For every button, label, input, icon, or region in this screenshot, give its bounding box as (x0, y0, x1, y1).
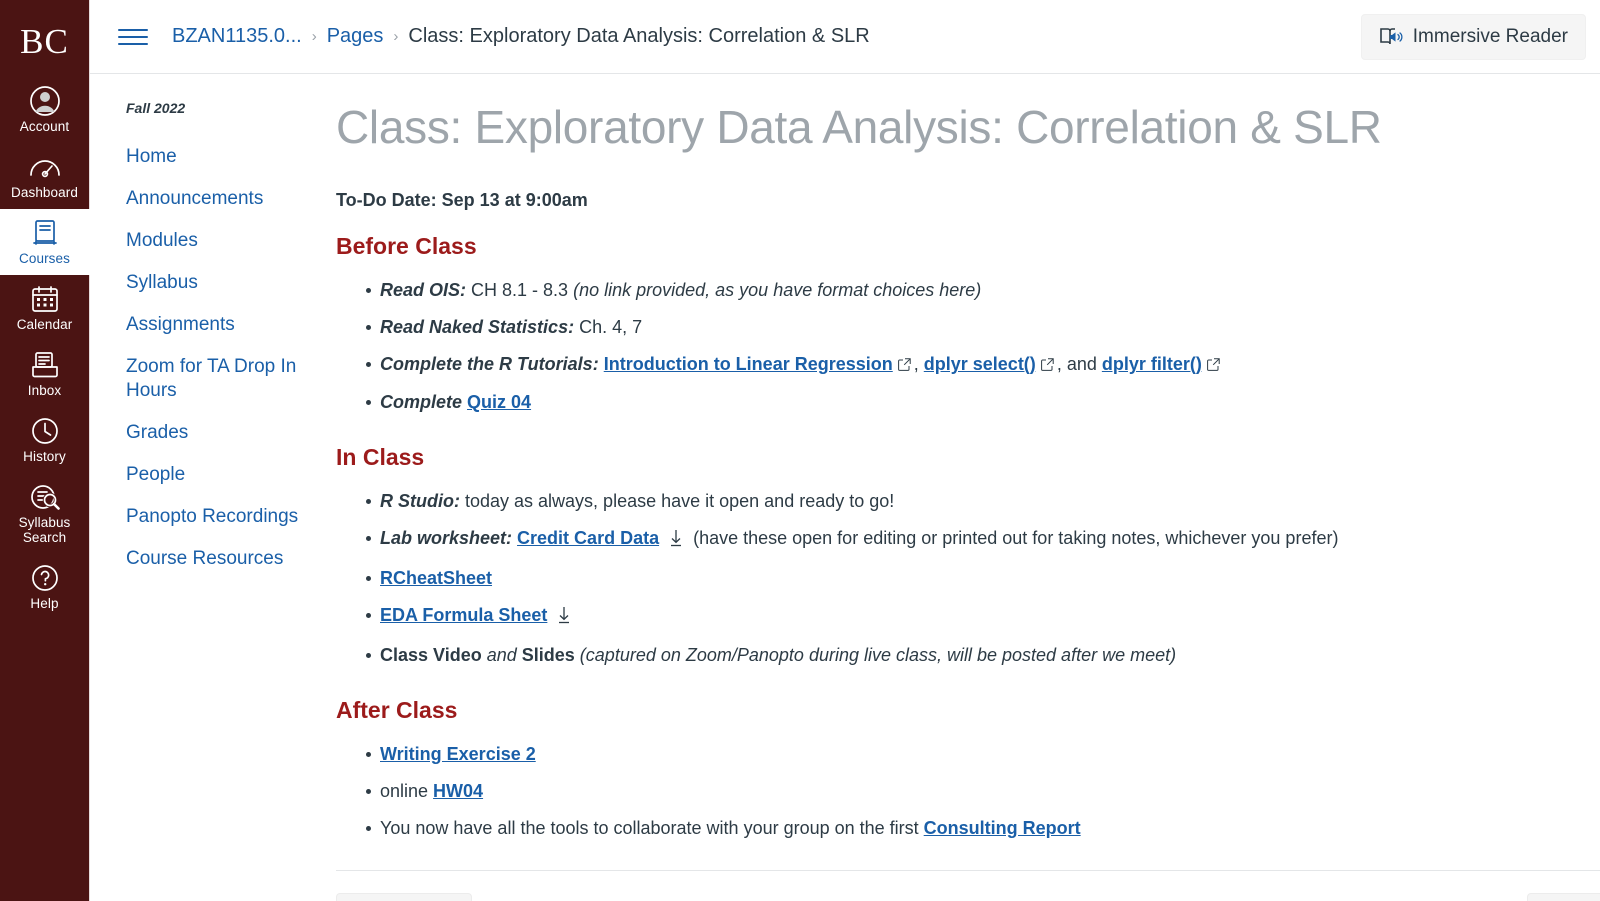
list-item: Writing Exercise 2 (366, 740, 1600, 768)
section-list: Read OIS: CH 8.1 - 8.3 (no link provided… (336, 276, 1600, 416)
global-nav-label: Calendar (17, 317, 73, 332)
global-nav-item-account[interactable]: Account (0, 77, 90, 143)
text-span: Class Video (380, 645, 482, 665)
content-link[interactable]: EDA Formula Sheet (380, 605, 547, 625)
global-nav-item-courses[interactable]: Courses (0, 209, 90, 275)
list-item: EDA Formula Sheet (366, 601, 1600, 632)
dashboard-icon (28, 152, 62, 182)
breadcrumb-separator: › (312, 28, 317, 45)
content-link[interactable]: dplyr select() (924, 354, 1036, 374)
global-nav-item-syllabus-search[interactable]: Syllabus Search (0, 473, 90, 554)
global-nav-label: Dashboard (11, 185, 78, 200)
text-span: Slides (522, 645, 575, 665)
global-nav-label: Inbox (28, 383, 62, 398)
text-span: , and (1057, 354, 1102, 374)
download-icon[interactable] (668, 527, 684, 555)
immersive-reader-label: Immersive Reader (1413, 26, 1568, 48)
brand-logo: BC (20, 24, 69, 59)
history-clock-icon (30, 416, 60, 446)
breadcrumb-current: Class: Exploratory Data Analysis: Correl… (408, 25, 869, 48)
content-link[interactable]: Introduction to Linear Regression (604, 354, 893, 374)
term-label: Fall 2022 (124, 100, 308, 116)
text-span: Complete (380, 392, 462, 412)
text-span: Ch. 4, 7 (574, 317, 642, 337)
immersive-reader-button[interactable]: Immersive Reader (1361, 14, 1586, 60)
list-item: Lab worksheet: Credit Card Data (have th… (366, 524, 1600, 555)
content-link[interactable]: RCheatSheet (380, 568, 492, 588)
course-nav-item-panopto-recordings[interactable]: Panopto Recordings (124, 496, 308, 538)
course-nav-item-people[interactable]: People (124, 454, 308, 496)
text-span: Read OIS: (380, 280, 466, 300)
content-link[interactable]: Writing Exercise 2 (380, 744, 536, 764)
global-nav-item-history[interactable]: History (0, 407, 90, 473)
global-nav-label: Syllabus Search (2, 515, 88, 545)
pagination: ◂ Previous Next ▸ (336, 871, 1600, 901)
external-link-icon (1207, 351, 1220, 379)
global-nav-label: Account (20, 119, 69, 134)
text-span: (have these open for editing or printed … (688, 528, 1338, 548)
previous-button[interactable]: ◂ Previous (336, 893, 472, 901)
list-item: You now have all the tools to collaborat… (366, 814, 1600, 842)
list-item: Complete the R Tutorials: Introduction t… (366, 350, 1600, 379)
course-nav-item-syllabus[interactable]: Syllabus (124, 262, 308, 304)
global-nav-item-dashboard[interactable]: Dashboard (0, 143, 90, 209)
syllabus-search-icon (29, 482, 61, 512)
content-link[interactable]: Credit Card Data (517, 528, 659, 548)
next-button[interactable]: Next ▸ (1527, 893, 1600, 901)
immersive-reader-icon (1379, 26, 1403, 48)
course-nav-item-course-resources[interactable]: Course Resources (124, 538, 308, 580)
text-span: (captured on Zoom/Panopto during live cl… (575, 645, 1176, 665)
text-span: Read Naked Statistics: (380, 317, 574, 337)
page-title: Class: Exploratory Data Analysis: Correl… (336, 100, 1600, 154)
global-nav-label: History (23, 449, 66, 464)
canvas-app: BC AccountDashboardCoursesCalendarInboxH… (0, 0, 1600, 901)
content-link[interactable]: Quiz 04 (467, 392, 531, 412)
list-item: R Studio: today as always, please have i… (366, 487, 1600, 515)
section-heading: In Class (336, 444, 1600, 471)
course-nav-item-zoom-for-ta-drop-in-hours[interactable]: Zoom for TA Drop In Hours (124, 346, 308, 412)
text-span: Complete the R Tutorials: (380, 354, 599, 374)
text-span: online (380, 781, 433, 801)
text-span: Lab worksheet: (380, 528, 512, 548)
content-sections: Before ClassRead OIS: CH 8.1 - 8.3 (no l… (336, 233, 1600, 842)
list-item: online HW04 (366, 777, 1600, 805)
content-link[interactable]: Consulting Report (924, 818, 1081, 838)
calendar-icon (30, 284, 60, 314)
breadcrumb: BZAN1135.0...›Pages›Class: Exploratory D… (172, 25, 870, 48)
list-item: Complete Quiz 04 (366, 388, 1600, 416)
text-span: CH 8.1 - 8.3 (466, 280, 573, 300)
section-heading: After Class (336, 697, 1600, 724)
list-item: Read Naked Statistics: Ch. 4, 7 (366, 313, 1600, 341)
text-span: and (482, 645, 522, 665)
global-nav-item-help[interactable]: Help (0, 554, 90, 620)
course-nav-item-grades[interactable]: Grades (124, 412, 308, 454)
list-item: Read OIS: CH 8.1 - 8.3 (no link provided… (366, 276, 1600, 304)
text-span: (no link provided, as you have format ch… (573, 280, 981, 300)
global-navigation: BC AccountDashboardCoursesCalendarInboxH… (0, 0, 90, 901)
main-region: BZAN1135.0...›Pages›Class: Exploratory D… (90, 0, 1600, 901)
todo-date: To-Do Date: Sep 13 at 9:00am (336, 190, 1600, 211)
content-region: Fall 2022 HomeAnnouncementsModulesSyllab… (90, 74, 1600, 901)
help-question-icon (30, 563, 60, 593)
inbox-icon (30, 350, 60, 380)
hamburger-icon[interactable] (118, 25, 148, 49)
global-nav-label: Courses (19, 251, 70, 266)
page-content: Class: Exploratory Data Analysis: Correl… (326, 74, 1600, 901)
breadcrumb-bar: BZAN1135.0...›Pages›Class: Exploratory D… (90, 0, 1600, 74)
content-link[interactable]: dplyr filter() (1102, 354, 1202, 374)
global-nav-label: Help (30, 596, 58, 611)
course-nav-item-announcements[interactable]: Announcements (124, 178, 308, 220)
external-link-icon (898, 351, 911, 379)
list-item: Class Video and Slides (captured on Zoom… (366, 641, 1600, 669)
course-nav-item-assignments[interactable]: Assignments (124, 304, 308, 346)
list-item: RCheatSheet (366, 564, 1600, 592)
text-span: , (914, 354, 924, 374)
external-link-icon (1041, 351, 1054, 379)
section-list: R Studio: today as always, please have i… (336, 487, 1600, 669)
course-nav-items: HomeAnnouncementsModulesSyllabusAssignme… (124, 136, 308, 580)
breadcrumb-separator: › (393, 28, 398, 45)
course-nav-item-modules[interactable]: Modules (124, 220, 308, 262)
courses-icon (31, 218, 59, 248)
section-heading: Before Class (336, 233, 1600, 260)
course-navigation: Fall 2022 HomeAnnouncementsModulesSyllab… (90, 74, 326, 901)
account-icon (28, 86, 62, 116)
breadcrumb-link[interactable]: BZAN1135.0... (172, 25, 302, 48)
course-nav-item-home[interactable]: Home (124, 136, 308, 178)
text-span: You now have all the tools to collaborat… (380, 818, 924, 838)
text-span: today as always, please have it open and… (460, 491, 894, 511)
download-icon[interactable] (556, 604, 572, 632)
global-nav-item-inbox[interactable]: Inbox (0, 341, 90, 407)
breadcrumb-link[interactable]: Pages (327, 25, 384, 48)
global-nav-item-calendar[interactable]: Calendar (0, 275, 90, 341)
section-list: Writing Exercise 2online HW04You now hav… (336, 740, 1600, 842)
global-nav-items: AccountDashboardCoursesCalendarInboxHist… (0, 77, 90, 620)
content-link[interactable]: HW04 (433, 781, 483, 801)
text-span: R Studio: (380, 491, 460, 511)
